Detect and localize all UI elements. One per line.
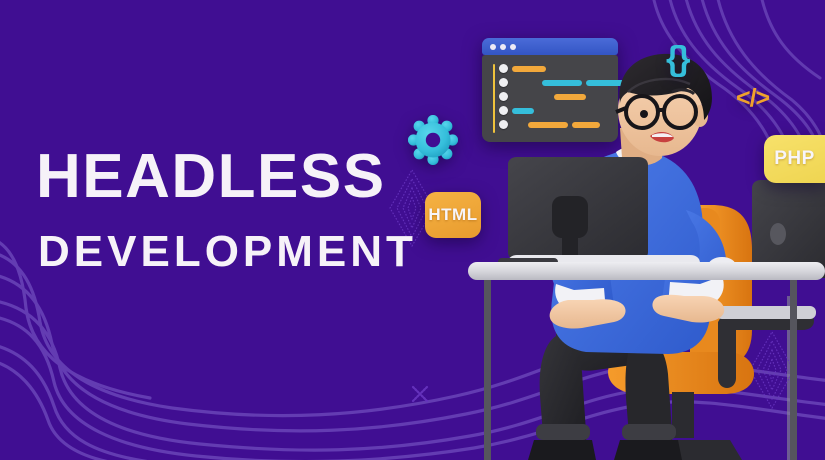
code-token-orange bbox=[572, 122, 600, 128]
code-line-bullet-icon bbox=[499, 92, 508, 101]
character-torso bbox=[551, 146, 710, 354]
character-arms bbox=[550, 210, 726, 329]
code-line-bullet-icon bbox=[499, 78, 508, 87]
code-token-orange bbox=[528, 122, 568, 128]
code-editor-window bbox=[482, 38, 618, 142]
code-gutter-bar bbox=[493, 64, 495, 133]
character-head bbox=[616, 54, 712, 166]
code-token-cyan bbox=[512, 108, 534, 114]
code-tag-label: </> bbox=[736, 84, 769, 112]
code-line bbox=[499, 63, 611, 74]
character-legs bbox=[528, 304, 682, 460]
code-token-cyan bbox=[586, 80, 628, 86]
code-line-bullet-icon bbox=[499, 64, 508, 73]
window-dot-icon bbox=[500, 44, 506, 50]
code-editor-titlebar bbox=[482, 38, 618, 55]
curly-braces-label: {} bbox=[666, 40, 688, 78]
curly-braces-icon: {} bbox=[666, 40, 688, 79]
desk bbox=[468, 262, 825, 460]
code-tag-icon: </> bbox=[736, 84, 769, 113]
badge-html-label: HTML bbox=[428, 205, 477, 225]
window-dot-icon bbox=[490, 44, 496, 50]
window-dot-icon bbox=[510, 44, 516, 50]
page-title: HEADLESS DEVELOPMENT bbox=[36, 146, 417, 274]
code-line-list bbox=[499, 63, 611, 130]
code-line bbox=[499, 119, 611, 130]
code-line bbox=[499, 91, 611, 102]
code-line-bullet-icon bbox=[499, 120, 508, 129]
badge-php-label: PHP bbox=[774, 148, 815, 170]
code-token-orange bbox=[554, 94, 586, 100]
badge-html: HTML bbox=[425, 192, 481, 238]
diamond-ornament-right bbox=[748, 330, 796, 415]
code-editor-body bbox=[482, 55, 618, 142]
code-token-cyan bbox=[542, 80, 582, 86]
code-line bbox=[499, 77, 611, 88]
mouse bbox=[708, 257, 736, 275]
office-chair bbox=[608, 205, 816, 460]
desktop-monitor bbox=[508, 157, 648, 270]
code-line-bullet-icon bbox=[499, 106, 508, 115]
headline-line-1: HEADLESS bbox=[36, 146, 417, 208]
laptop bbox=[724, 180, 825, 278]
badge-php: PHP bbox=[764, 135, 825, 183]
code-line bbox=[499, 105, 611, 116]
headless-development-banner: HEADLESS DEVELOPMENT HTML PHP bbox=[0, 0, 825, 460]
headline-line-2: DEVELOPMENT bbox=[38, 230, 417, 274]
keyboard bbox=[498, 255, 700, 272]
x-mark-ornament bbox=[410, 384, 430, 409]
code-token-orange bbox=[512, 66, 546, 72]
